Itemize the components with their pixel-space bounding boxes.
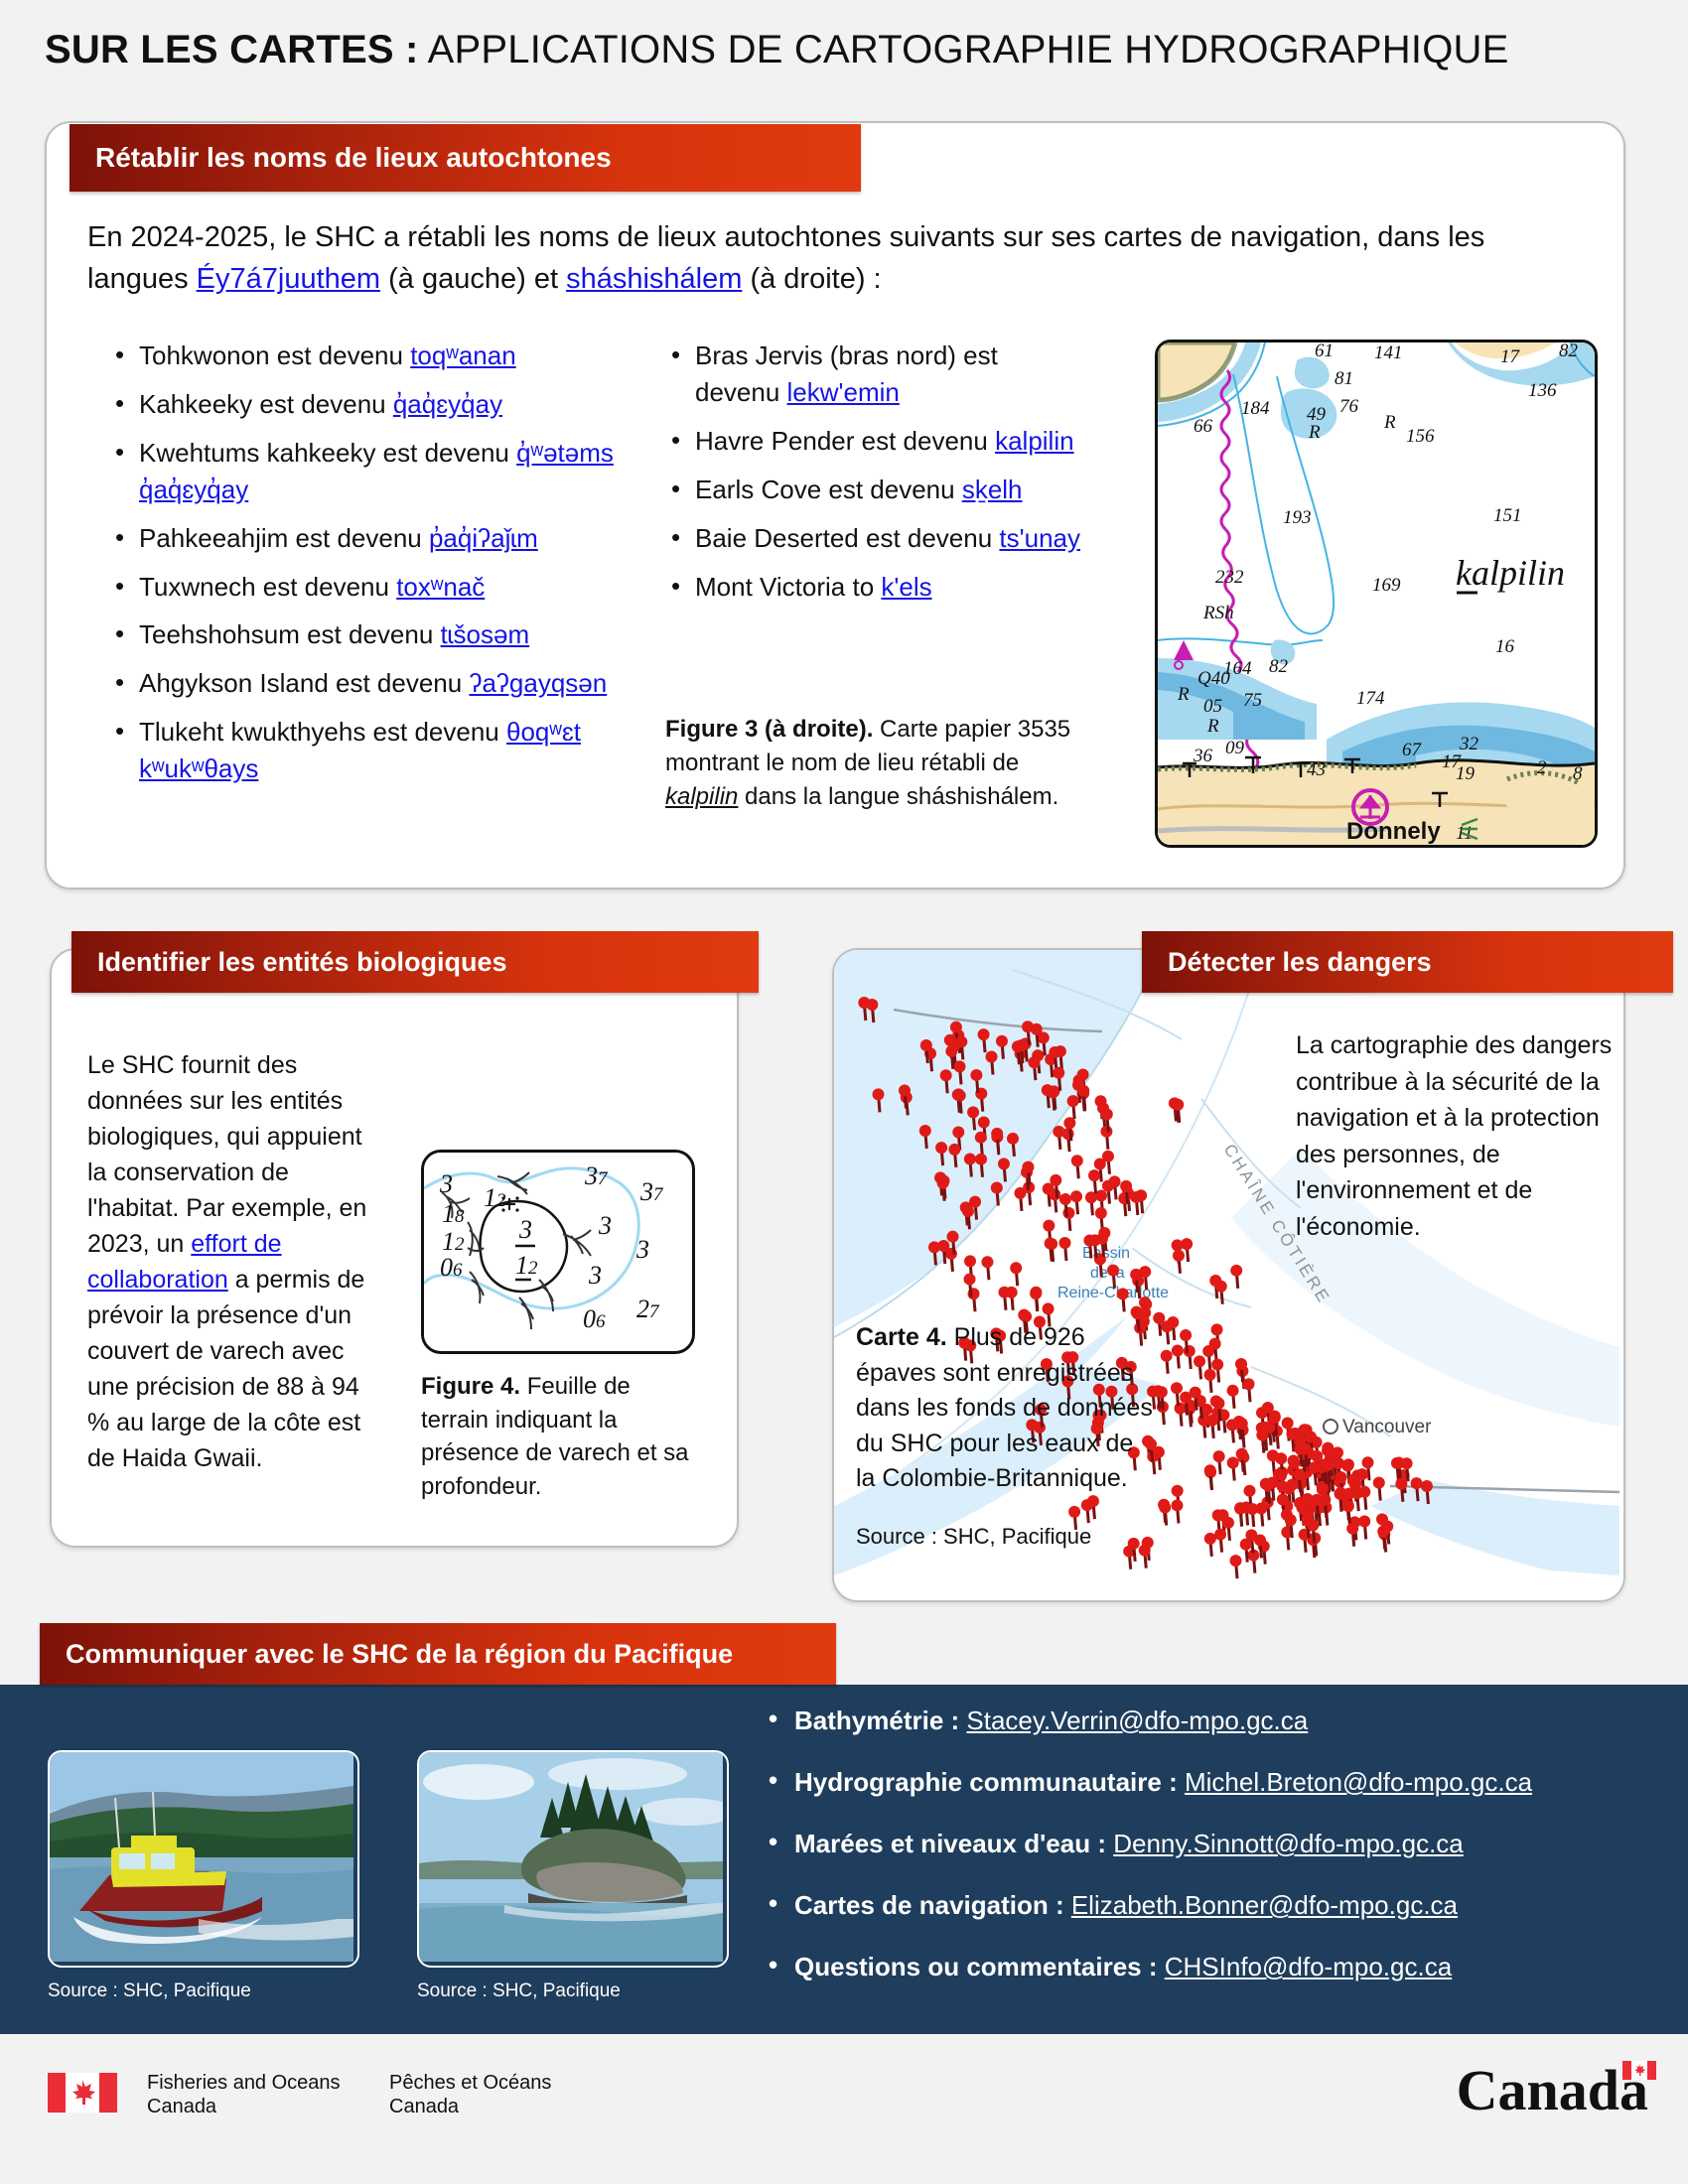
contact-item: Questions ou commentaires : CHSInfo@dfo-… (765, 1954, 1658, 1979)
carte4-caption: Carte 4. Plus de 926 épaves sont enregis… (856, 1320, 1154, 1497)
place-name-left-text-7: Tlukeht kwukthyehs est devenu (139, 717, 506, 747)
contact-label-0: Bathymétrie : (794, 1706, 966, 1735)
place-name-left-link-3[interactable]: p̓aq̓iʔaǰɩm (429, 523, 538, 553)
heading-hazards: Détecter les dangers (1142, 931, 1673, 993)
place-name-left-text-3: Pahkeeahjim est devenu (139, 523, 429, 553)
svg-text:61: 61 (1315, 342, 1334, 361)
list-item: Pahkeeahjim est devenu p̓aq̓iʔaǰɩm (139, 520, 626, 557)
svg-text:R: R (1383, 412, 1396, 433)
heading-contact: Communiquer avec le SHC de la région du … (40, 1623, 836, 1685)
figure4-label: Figure 4. (421, 1373, 520, 1400)
canada-flag-icon (48, 2073, 117, 2113)
page-title-bold: SUR LES CARTES : (45, 28, 419, 71)
svg-text:169: 169 (1372, 575, 1401, 596)
list-item: Kwehtums kahkeeky est devenu q̓ʷətəms q̓… (139, 435, 626, 508)
svg-text:193: 193 (1283, 507, 1312, 528)
svg-text:75: 75 (1243, 690, 1262, 711)
svg-text:8: 8 (1573, 763, 1583, 784)
svg-text:19: 19 (1456, 763, 1476, 784)
place-name-left-text-1: Kahkeeky est devenu (139, 389, 393, 419)
svg-text:232: 232 (1215, 567, 1244, 588)
bio-text-pre: Le SHC fournit des données sur les entit… (87, 1051, 366, 1258)
list-item: Earls Cove est devenu sḵelh (695, 472, 1082, 508)
dfo-label-fr: Pêches et Océans Canada (389, 2071, 551, 2119)
figure3-tail: dans la langue sháshishálem. (738, 783, 1058, 810)
dfo-fr-line2: Canada (389, 2095, 551, 2118)
svg-text:Vancouver: Vancouver (1342, 1417, 1432, 1437)
svg-text:141: 141 (1374, 342, 1403, 363)
svg-text:82: 82 (1269, 656, 1289, 677)
svg-text:66: 66 (1194, 416, 1213, 437)
contact-item: Bathymétrie : Stacey.Verrin@dfo-mpo.gc.c… (765, 1707, 1658, 1733)
figure3-caption: Figure 3 (à droite). Carte papier 3535 m… (665, 713, 1092, 814)
svg-text:Q40: Q40 (1197, 668, 1230, 689)
contact-email-4[interactable]: CHSInfo@dfo-mpo.gc.ca (1165, 1952, 1452, 1981)
place-name-left-text-6: Ahgykson Island est devenu (139, 668, 469, 698)
heading-contact-label: Communiquer avec le SHC de la région du … (66, 1639, 733, 1670)
infographic-page: SUR LES CARTES : APPLICATIONS DE CARTOGR… (0, 0, 1688, 2184)
place-name-left-text-5: Teehshohsum est devenu (139, 619, 441, 649)
svg-text:05: 05 (1203, 696, 1222, 717)
place-name-left-link-5[interactable]: tɩšosəm (441, 619, 530, 649)
place-names-column-right: Bras Jervis (bras nord) est devenu lekw'… (665, 338, 1082, 616)
contact-item: Marées et niveaux d'eau : Denny.Sinnott@… (765, 1831, 1658, 1856)
heading-biological-entities: Identifier les entités biologiques (71, 931, 759, 993)
dfo-en-line1: Fisheries and Oceans (147, 2071, 341, 2095)
heading-bio-label: Identifier les entités biologiques (97, 947, 507, 978)
svg-text:151: 151 (1493, 505, 1522, 526)
figure4-field-sheet: 3 12 37 37 18 12 06 3 3 3 06 27 3 12 (421, 1150, 695, 1354)
place-name-right-link-4[interactable]: k'els (881, 572, 931, 602)
contact-email-0[interactable]: Stacey.Verrin@dfo-mpo.gc.ca (966, 1706, 1308, 1735)
svg-text:81: 81 (1335, 368, 1353, 389)
svg-text:3: 3 (635, 1235, 649, 1264)
canada-wordmark-flag-icon (1622, 2061, 1656, 2080)
list-item: Teehshohsum est devenu tɩšosəm (139, 616, 626, 653)
place-name-left-link-1[interactable]: q̓aq̓ɛyq̓ay (393, 389, 502, 419)
list-item: Mont Victoria to k'els (695, 569, 1082, 606)
carte4-source: Source : SHC, Pacifique (856, 1524, 1174, 1550)
svg-text:de la: de la (1090, 1265, 1125, 1282)
intro-post: (à droite) : (742, 263, 881, 295)
photo1-source: Source : SHC, Pacifique (48, 1980, 251, 2002)
svg-text:3: 3 (518, 1215, 532, 1244)
list-item: Bras Jervis (bras nord) est devenu lekw'… (695, 338, 1082, 411)
page-title-rest: APPLICATIONS DE CARTOGRAPHIE HYDROGRAPHI… (419, 28, 1509, 71)
contact-list: Bathymétrie : Stacey.Verrin@dfo-mpo.gc.c… (765, 1707, 1658, 2015)
svg-text:Donnely: Donnely (1346, 818, 1441, 845)
hazards-paragraph: La cartographie des dangers contribue à … (1296, 1027, 1614, 1245)
dfo-label-en: Fisheries and Oceans Canada (147, 2071, 341, 2119)
place-name-right-link-2[interactable]: sḵelh (962, 475, 1023, 504)
photo2-source: Source : SHC, Pacifique (417, 1980, 621, 2002)
list-item: Tuxwnech est devenu toxʷnač (139, 569, 626, 606)
bio-paragraph: Le SHC fournit des données sur les entit… (87, 1047, 367, 1476)
page-title: SUR LES CARTES : APPLICATIONS DE CARTOGR… (45, 28, 1653, 72)
figure4-caption: Figure 4. Feuille de terrain indiquant l… (421, 1370, 699, 1503)
carte4-label: Carte 4. (856, 1323, 947, 1351)
list-item: Ahgykson Island est devenu ʔaʔgayqsən (139, 665, 626, 702)
heading-place-names: Rétablir les noms de lieux autochtones (70, 124, 861, 192)
svg-text:R: R (1177, 684, 1190, 705)
contact-email-2[interactable]: Denny.Sinnott@dfo-mpo.gc.ca (1113, 1829, 1464, 1858)
svg-text:82: 82 (1559, 342, 1579, 361)
svg-text:kalpilin: kalpilin (1456, 553, 1565, 593)
svg-text:136: 136 (1528, 380, 1557, 401)
place-name-left-text-4: Tuxwnech est devenu (139, 572, 396, 602)
place-name-left-text-0: Tohkwonon est devenu (139, 341, 410, 370)
contact-label-4: Questions ou commentaires : (794, 1952, 1165, 1981)
contact-email-1[interactable]: Michel.Breton@dfo-mpo.gc.ca (1185, 1767, 1532, 1797)
svg-text:09: 09 (1225, 738, 1245, 758)
place-name-left-link-4[interactable]: toxʷnač (396, 572, 485, 602)
figure3-nautical-chart: 61 141 17 82 81 136 184 49 76 R 156 66 R… (1155, 340, 1598, 848)
link-language-right[interactable]: sháshishálem (566, 263, 742, 295)
contact-email-3[interactable]: Elizabeth.Bonner@dfo-mpo.gc.ca (1071, 1890, 1458, 1920)
svg-text:67: 67 (1402, 740, 1423, 760)
list-item: Tohkwonon est devenu toqʷanan (139, 338, 626, 374)
dfo-en-line2: Canada (147, 2095, 341, 2118)
place-name-left-link-6[interactable]: ʔaʔgayqsən (469, 668, 607, 698)
list-item: Kahkeeky est devenu q̓aq̓ɛyq̓ay (139, 386, 626, 423)
heading-place-names-label: Rétablir les noms de lieux autochtones (95, 142, 612, 174)
place-name-right-link-3[interactable]: ts'unay (999, 523, 1080, 553)
list-item: Baie Deserted est devenu ts'unay (695, 520, 1082, 557)
place-name-left-text-2: Kwehtums kahkeeky est devenu (139, 438, 516, 468)
place-name-right-text-2: Earls Cove est devenu (695, 475, 962, 504)
contact-label-1: Hydrographie communautaire : (794, 1767, 1185, 1797)
place-names-column-left: Tohkwonon est devenu toqʷananKahkeeky es… (109, 338, 626, 799)
svg-text:3: 3 (588, 1261, 602, 1290)
svg-text:174: 174 (1356, 688, 1385, 709)
contact-label-2: Marées et niveaux d'eau : (794, 1829, 1113, 1858)
place-name-left-link-0[interactable]: toqʷanan (410, 341, 516, 370)
figure3-italic-name: kalpilin (665, 783, 738, 810)
bio-text-post: a permis de prévoir la présence d'un cou… (87, 1266, 364, 1472)
svg-text:R: R (1308, 422, 1321, 443)
place-name-right-text-4: Mont Victoria to (695, 572, 881, 602)
intro-paragraph: En 2024-2025, le SHC a rétabli les noms … (87, 216, 1507, 300)
svg-text:184: 184 (1241, 398, 1270, 419)
contact-item: Cartes de navigation : Elizabeth.Bonner@… (765, 1892, 1658, 1918)
photo-survey-boat (48, 1750, 359, 1968)
intro-mid: (à gauche) et (380, 263, 566, 295)
contact-label-3: Cartes de navigation : (794, 1890, 1071, 1920)
canada-wordmark: Canada (1457, 2057, 1648, 2123)
svg-text:R: R (1206, 716, 1219, 737)
link-language-left[interactable]: Éy7á7juuthem (197, 263, 380, 295)
place-name-right-text-3: Baie Deserted est devenu (695, 523, 999, 553)
contact-item: Hydrographie communautaire : Michel.Bret… (765, 1769, 1658, 1795)
svg-text:76: 76 (1339, 396, 1359, 417)
dfo-fr-line1: Pêches et Océans (389, 2071, 551, 2095)
svg-text:32: 32 (1459, 734, 1479, 754)
svg-text:3: 3 (598, 1211, 612, 1240)
svg-text:RSh: RSh (1202, 603, 1234, 623)
photo-islet (417, 1750, 729, 1968)
svg-text:36: 36 (1193, 746, 1213, 766)
heading-hazards-label: Détecter les dangers (1168, 947, 1432, 978)
list-item: Tlukeht kwukthyehs est devenu θoqʷɛt kʷu… (139, 714, 626, 787)
svg-text:17: 17 (1500, 346, 1521, 367)
svg-text:3: 3 (439, 1169, 453, 1198)
svg-text:43: 43 (1307, 759, 1326, 780)
place-name-right-link-0[interactable]: lekw'emin (787, 377, 900, 407)
svg-text:2: 2 (1537, 757, 1547, 778)
svg-text:16: 16 (1495, 636, 1515, 657)
list-item: Havre Pender est devenu kalpilin (695, 423, 1082, 460)
figure3-label: Figure 3 (à droite). (665, 716, 873, 743)
place-name-right-text-1: Havre Pender est devenu (695, 426, 995, 456)
svg-text:156: 156 (1406, 426, 1435, 447)
place-name-right-link-1[interactable]: kalpilin (995, 426, 1074, 456)
